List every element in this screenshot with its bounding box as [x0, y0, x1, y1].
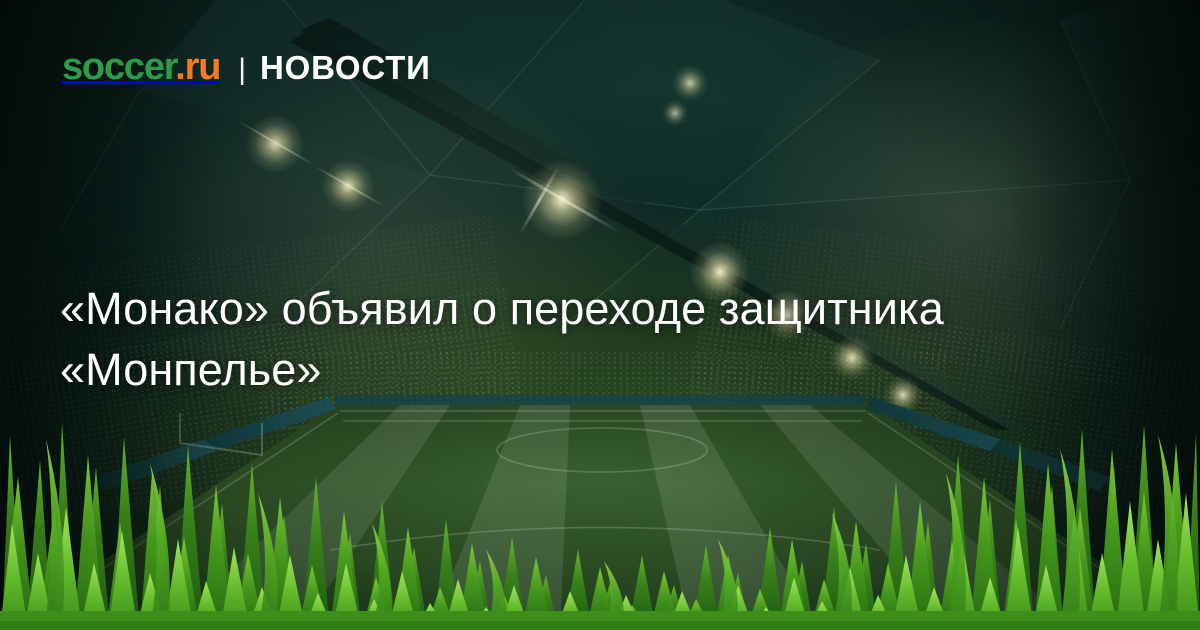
header-divider: | [238, 55, 246, 85]
logo-name-text: soccer [62, 46, 175, 88]
site-logo[interactable]: soccer.ru [62, 48, 220, 86]
foreground-grass [0, 415, 1200, 630]
site-header: soccer.ru | НОВОСТИ [62, 48, 431, 86]
article-headline: «Монако» объявил о переходе защитника «М… [60, 278, 990, 400]
section-label: НОВОСТИ [260, 51, 431, 84]
news-share-card: soccer.ru | НОВОСТИ «Монако» объявил о п… [0, 0, 1200, 630]
logo-domain-text: .ru [175, 46, 220, 88]
